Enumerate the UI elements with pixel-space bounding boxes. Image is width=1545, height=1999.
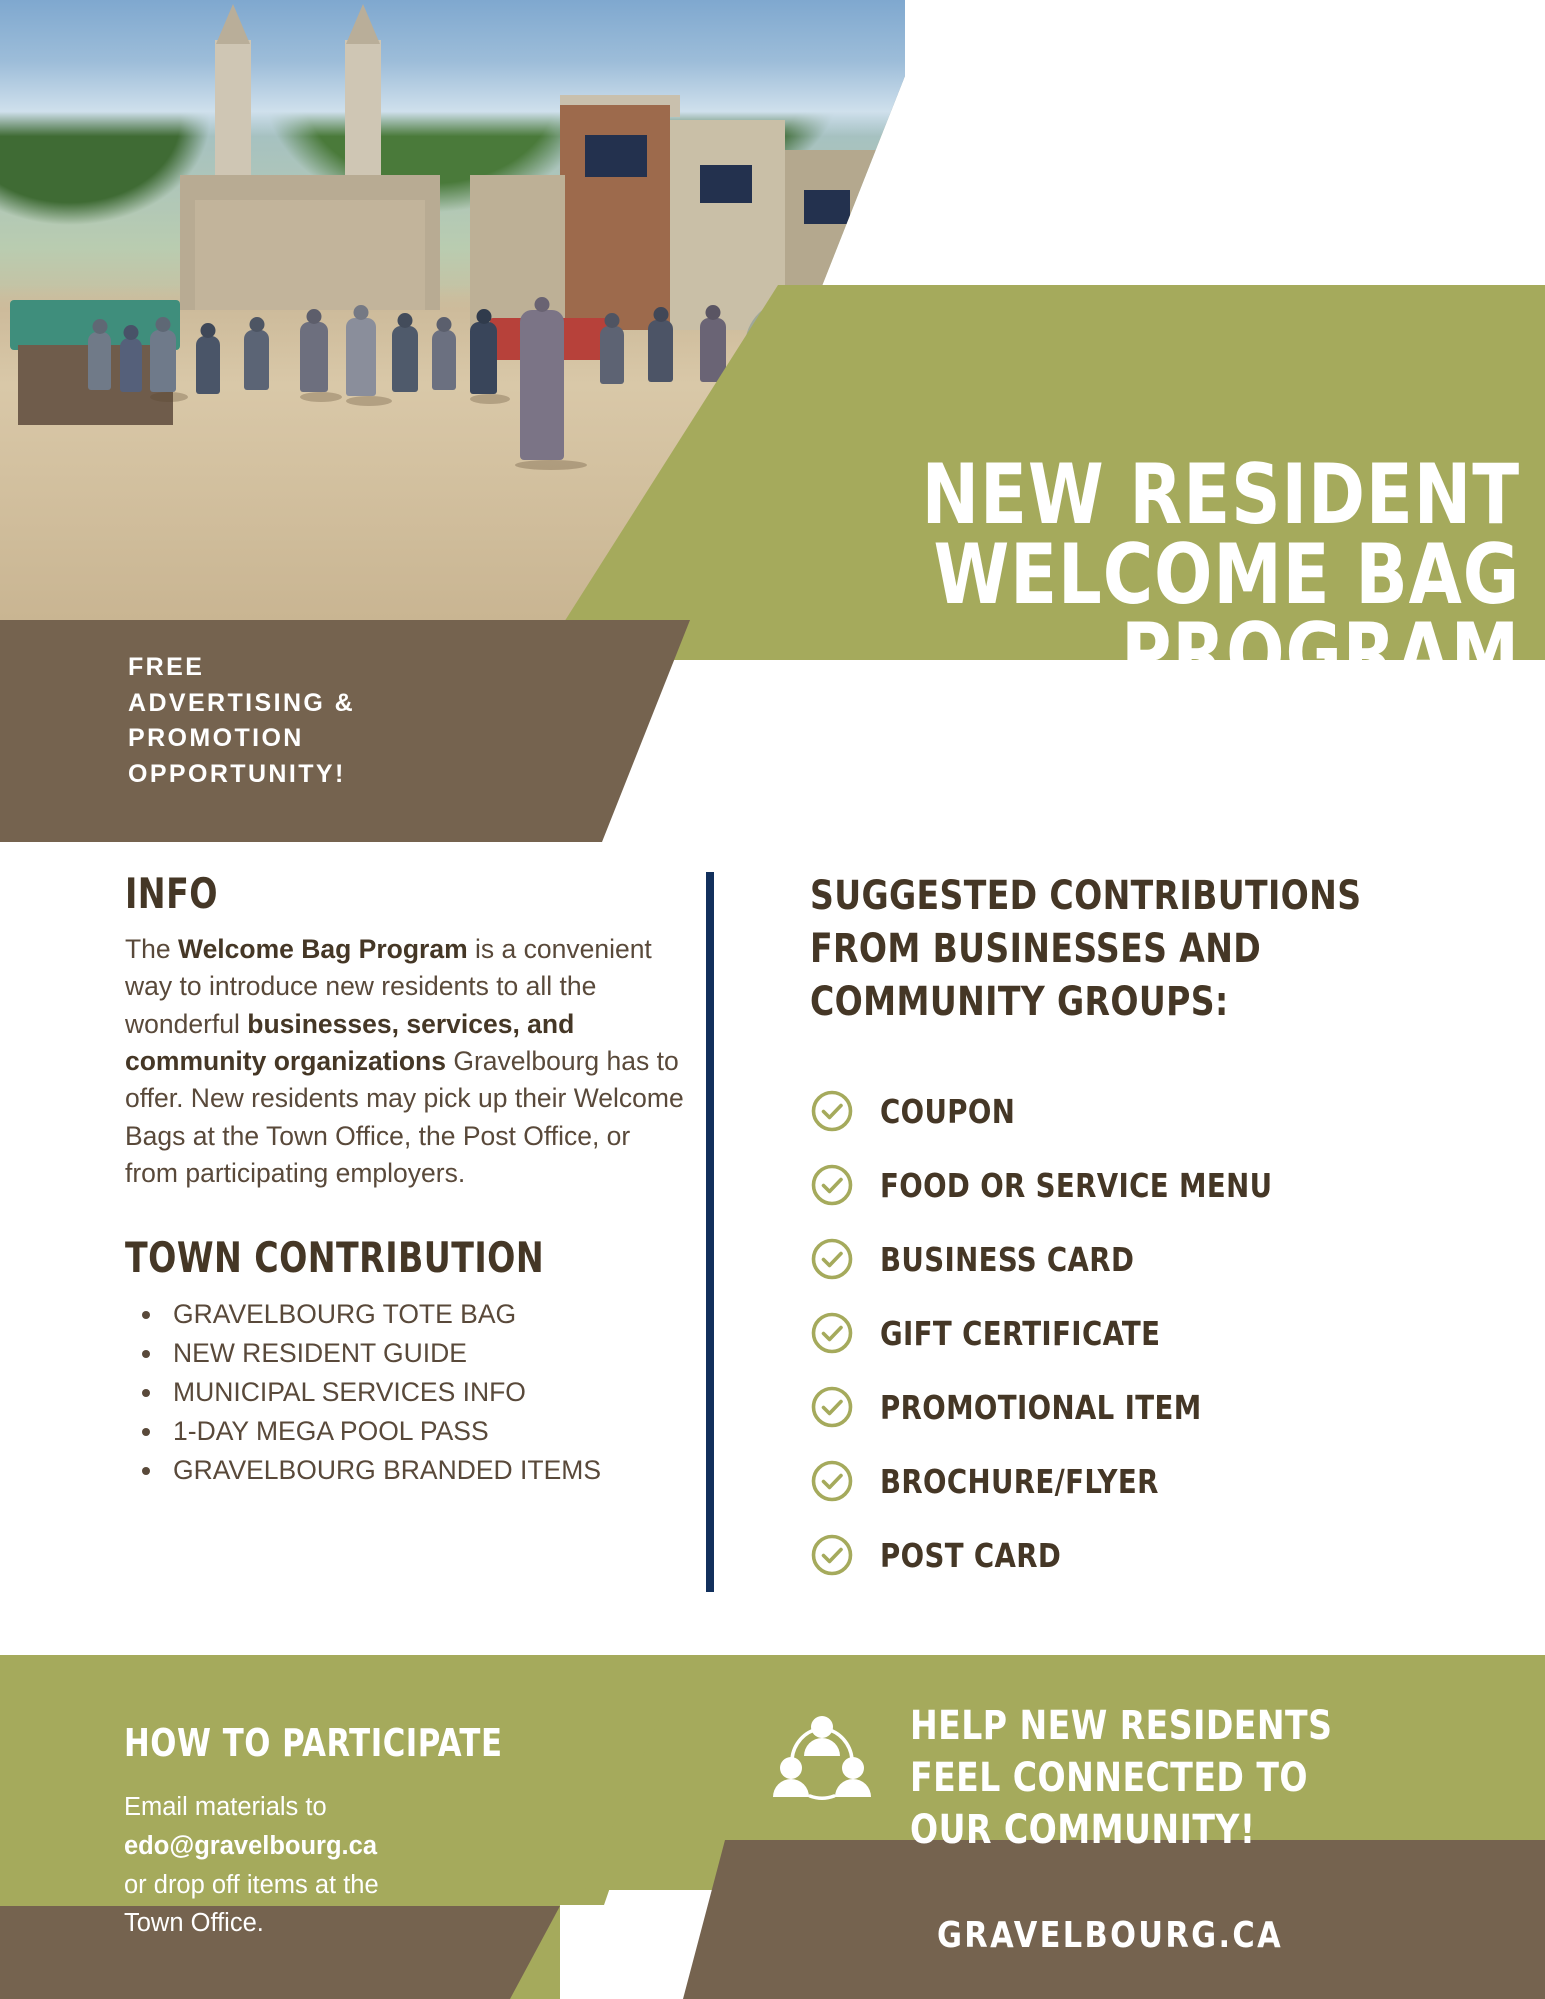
column-divider: [706, 872, 714, 1592]
town-contribution-block: TOWN CONTRIBUTION GRAVELBOURG TOTE BAGNE…: [125, 1237, 690, 1491]
town-contribution-item: 1-DAY MEGA POOL PASS: [165, 1412, 690, 1451]
contact-email[interactable]: edo@gravelbourg.ca: [124, 1832, 377, 1860]
suggested-item: BROCHURE/FLYER: [810, 1444, 1450, 1518]
info-emphasis: businesses, services, and community orga…: [125, 1009, 574, 1076]
check-circle-icon: [810, 1089, 854, 1133]
crowd-person: [300, 322, 328, 392]
suggested-item-label: PROMOTIONAL ITEM: [880, 1388, 1202, 1427]
check-circle-icon: [810, 1385, 854, 1429]
town-contribution-item: GRAVELBOURG TOTE BAG: [165, 1295, 690, 1334]
suggested-item-label: COUPON: [880, 1092, 1015, 1131]
crowd-person: [196, 336, 220, 394]
crowd-shadow: [515, 460, 587, 470]
how-line-1: Email materials to: [124, 1793, 327, 1821]
check-circle-icon: [810, 1311, 854, 1355]
crowd-person: [470, 322, 497, 394]
crowd-shadow: [300, 392, 342, 402]
crowd-person: [88, 332, 111, 390]
check-circle-icon: [810, 1533, 854, 1577]
crowd-person: [648, 320, 673, 382]
help-text: HELP NEW RESIDENTS FEEL CONNECTED TO OUR…: [910, 1700, 1332, 1856]
crowd-person: [600, 326, 624, 384]
town-contribution-item: NEW RESIDENT GUIDE: [165, 1334, 690, 1373]
suggested-item-label: FOOD OR SERVICE MENU: [880, 1166, 1272, 1205]
church-body: [195, 200, 425, 310]
suggested-item-label: BUSINESS CARD: [880, 1240, 1134, 1279]
check-circle-icon: [810, 1459, 854, 1503]
page-title: NEW RESIDENT WELCOME BAG PROGRAM: [637, 455, 1520, 694]
suggested-heading-line-2: FROM BUSINESSES AND: [810, 923, 1399, 976]
crowd-person: [520, 310, 564, 460]
free-advertising-text: FREE ADVERTISING & PROMOTION OPPORTUNITY…: [128, 650, 608, 792]
storefront-window-3: [804, 190, 850, 224]
title-line-3: PROGRAM: [637, 614, 1520, 694]
help-line-3: OUR COMMUNITY!: [910, 1804, 1332, 1856]
town-contribution-list: GRAVELBOURG TOTE BAGNEW RESIDENT GUIDEMU…: [125, 1295, 690, 1491]
crowd-person: [150, 330, 176, 392]
title-line-1: NEW RESIDENT: [637, 455, 1520, 535]
suggested-item-label: POST CARD: [880, 1536, 1061, 1575]
website-url[interactable]: GRAVELBOURG.CA: [781, 1915, 1439, 1956]
town-contribution-heading: TOWN CONTRIBUTION: [125, 1237, 622, 1279]
free-line-2: ADVERTISING &: [128, 686, 608, 722]
check-circle-icon: [810, 1163, 854, 1207]
check-circle-icon: [810, 1237, 854, 1281]
suggested-item: PROMOTIONAL ITEM: [810, 1370, 1450, 1444]
storefront-beige: [670, 120, 785, 330]
help-line-1: HELP NEW RESIDENTS: [910, 1700, 1332, 1752]
info-column: INFO The Welcome Bag Program is a conven…: [125, 873, 690, 1491]
storefront-window-1: [585, 135, 647, 177]
crowd-person: [392, 326, 418, 392]
crowd-shadow: [470, 394, 510, 404]
how-to-participate-heading: HOW TO PARTICIPATE: [124, 1724, 547, 1762]
info-paragraph: The Welcome Bag Program is a convenient …: [125, 931, 690, 1193]
suggested-item: BUSINESS CARD: [810, 1222, 1450, 1296]
crowd-person: [432, 330, 456, 390]
suggested-item: FOOD OR SERVICE MENU: [810, 1148, 1450, 1222]
how-to-participate-body: Email materials to edo@gravelbourg.ca or…: [124, 1788, 594, 1943]
suggested-item: GIFT CERTIFICATE: [810, 1296, 1450, 1370]
how-to-participate-block: HOW TO PARTICIPATE Email materials to ed…: [124, 1724, 594, 1943]
suggested-heading-line-3: COMMUNITY GROUPS:: [810, 976, 1399, 1029]
community-people-icon: [770, 1708, 874, 1812]
crowd-person: [120, 338, 142, 392]
suggested-item: POST CARD: [810, 1518, 1450, 1592]
how-line-2: or drop off items at the: [124, 1871, 379, 1899]
crowd-person: [244, 330, 269, 390]
suggested-items-list: COUPONFOOD OR SERVICE MENUBUSINESS CARDG…: [810, 1074, 1450, 1592]
help-new-residents-block: HELP NEW RESIDENTS FEEL CONNECTED TO OUR…: [770, 1700, 1369, 1856]
suggested-heading: SUGGESTED CONTRIBUTIONS FROM BUSINESSES …: [810, 870, 1399, 1028]
free-line-3: PROMOTION: [128, 721, 608, 757]
info-heading: INFO: [125, 873, 622, 915]
suggested-item-label: BROCHURE/FLYER: [880, 1462, 1159, 1501]
crowd-shadow: [150, 392, 188, 402]
storefront-near: [470, 175, 565, 330]
town-contribution-item: GRAVELBOURG BRANDED ITEMS: [165, 1451, 690, 1490]
info-emphasis: Welcome Bag Program: [178, 934, 468, 964]
suggested-heading-line-1: SUGGESTED CONTRIBUTIONS: [810, 870, 1399, 923]
how-line-3: Town Office.: [124, 1909, 264, 1937]
town-contribution-item: MUNICIPAL SERVICES INFO: [165, 1373, 690, 1412]
crowd-person: [700, 318, 726, 382]
storefront-window-2: [700, 165, 752, 203]
title-line-2: WELCOME BAG: [637, 535, 1520, 615]
help-line-2: FEEL CONNECTED TO: [910, 1752, 1332, 1804]
crowd-person: [346, 318, 376, 396]
free-line-4: OPPORTUNITY!: [128, 757, 608, 793]
free-line-1: FREE: [128, 650, 608, 686]
crowd-shadow: [346, 396, 392, 406]
suggested-contributions-column: SUGGESTED CONTRIBUTIONS FROM BUSINESSES …: [810, 870, 1450, 1592]
suggested-item: COUPON: [810, 1074, 1450, 1148]
suggested-item-label: GIFT CERTIFICATE: [880, 1314, 1160, 1353]
